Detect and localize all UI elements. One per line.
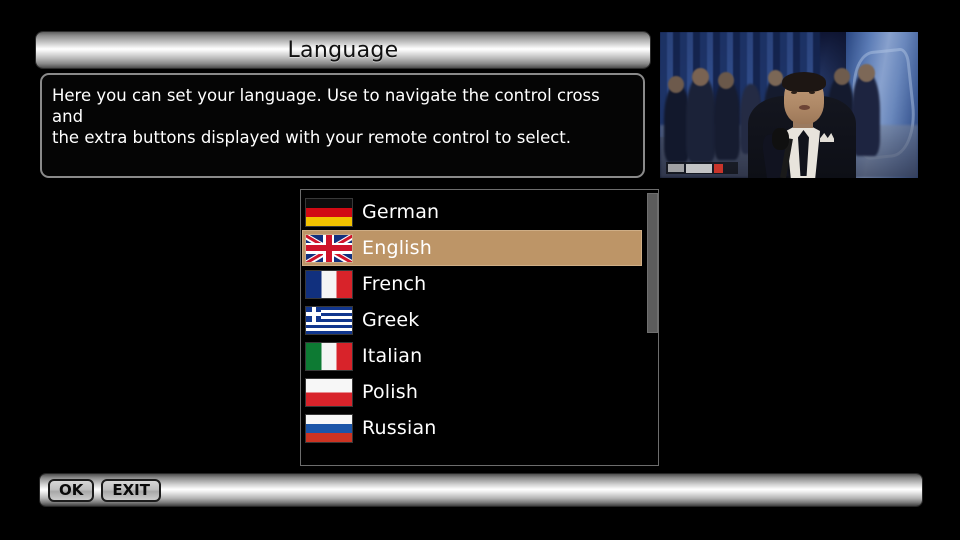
description-text: Here you can set your language. Use to n… (52, 85, 631, 148)
crowd-head (692, 68, 709, 86)
language-label: English (362, 237, 432, 259)
language-label: German (362, 201, 439, 223)
language-row-english[interactable]: English (302, 230, 642, 266)
crowd-head (858, 64, 875, 82)
language-label: French (362, 273, 426, 295)
exit-button[interactable]: EXIT (101, 479, 161, 502)
language-row-polish[interactable]: Polish (302, 374, 642, 410)
language-list: GermanEnglishFrenchGreekItalianPolishRus… (302, 194, 642, 446)
page-title: Language (288, 38, 399, 63)
language-list-panel[interactable]: GermanEnglishFrenchGreekItalianPolishRus… (300, 189, 659, 466)
language-label: Greek (362, 309, 420, 331)
crowd-head (668, 76, 684, 93)
description-box: Here you can set your language. Use to n… (40, 73, 645, 178)
flag-icon-russian (306, 415, 352, 442)
crowd-figure (686, 76, 716, 162)
language-label: Russian (362, 417, 437, 439)
news-channel-logo (666, 162, 738, 174)
reporter-mouth (799, 105, 810, 110)
flag-icon-greek (306, 307, 352, 334)
flag-icon-german (306, 199, 352, 226)
flag-icon-english (306, 235, 352, 262)
crowd-figure (852, 72, 880, 156)
crowd-figure (714, 80, 740, 160)
scrollbar-thumb[interactable] (647, 193, 658, 333)
bottom-softkey-bar: OK EXIT (40, 474, 922, 506)
language-label: Polish (362, 381, 418, 403)
logo-mark (668, 164, 684, 172)
crowd-head (834, 68, 850, 85)
language-row-french[interactable]: French (302, 266, 642, 302)
title-bar: Language (36, 32, 650, 68)
language-row-russian[interactable]: Russian (302, 410, 642, 446)
language-row-italian[interactable]: Italian (302, 338, 642, 374)
flag-icon-italian (306, 343, 352, 370)
flag-icon-french (306, 271, 352, 298)
language-row-greek[interactable]: Greek (302, 302, 642, 338)
video-preview[interactable] (660, 32, 918, 178)
tv-settings-screen: Language Here you can set your language.… (0, 0, 960, 540)
microphone-icon (772, 128, 789, 150)
reporter-hair (782, 72, 826, 92)
list-scrollbar[interactable] (647, 190, 658, 465)
ok-button[interactable]: OK (48, 479, 94, 502)
reporter-eye (809, 91, 815, 94)
reporter-eye (791, 91, 797, 94)
language-label: Italian (362, 345, 422, 367)
crowd-head (768, 70, 783, 86)
logo-text-block (686, 164, 712, 173)
flag-icon-polish (306, 379, 352, 406)
language-row-german[interactable]: German (302, 194, 642, 230)
crowd-head (718, 72, 734, 89)
logo-accent (714, 164, 723, 173)
